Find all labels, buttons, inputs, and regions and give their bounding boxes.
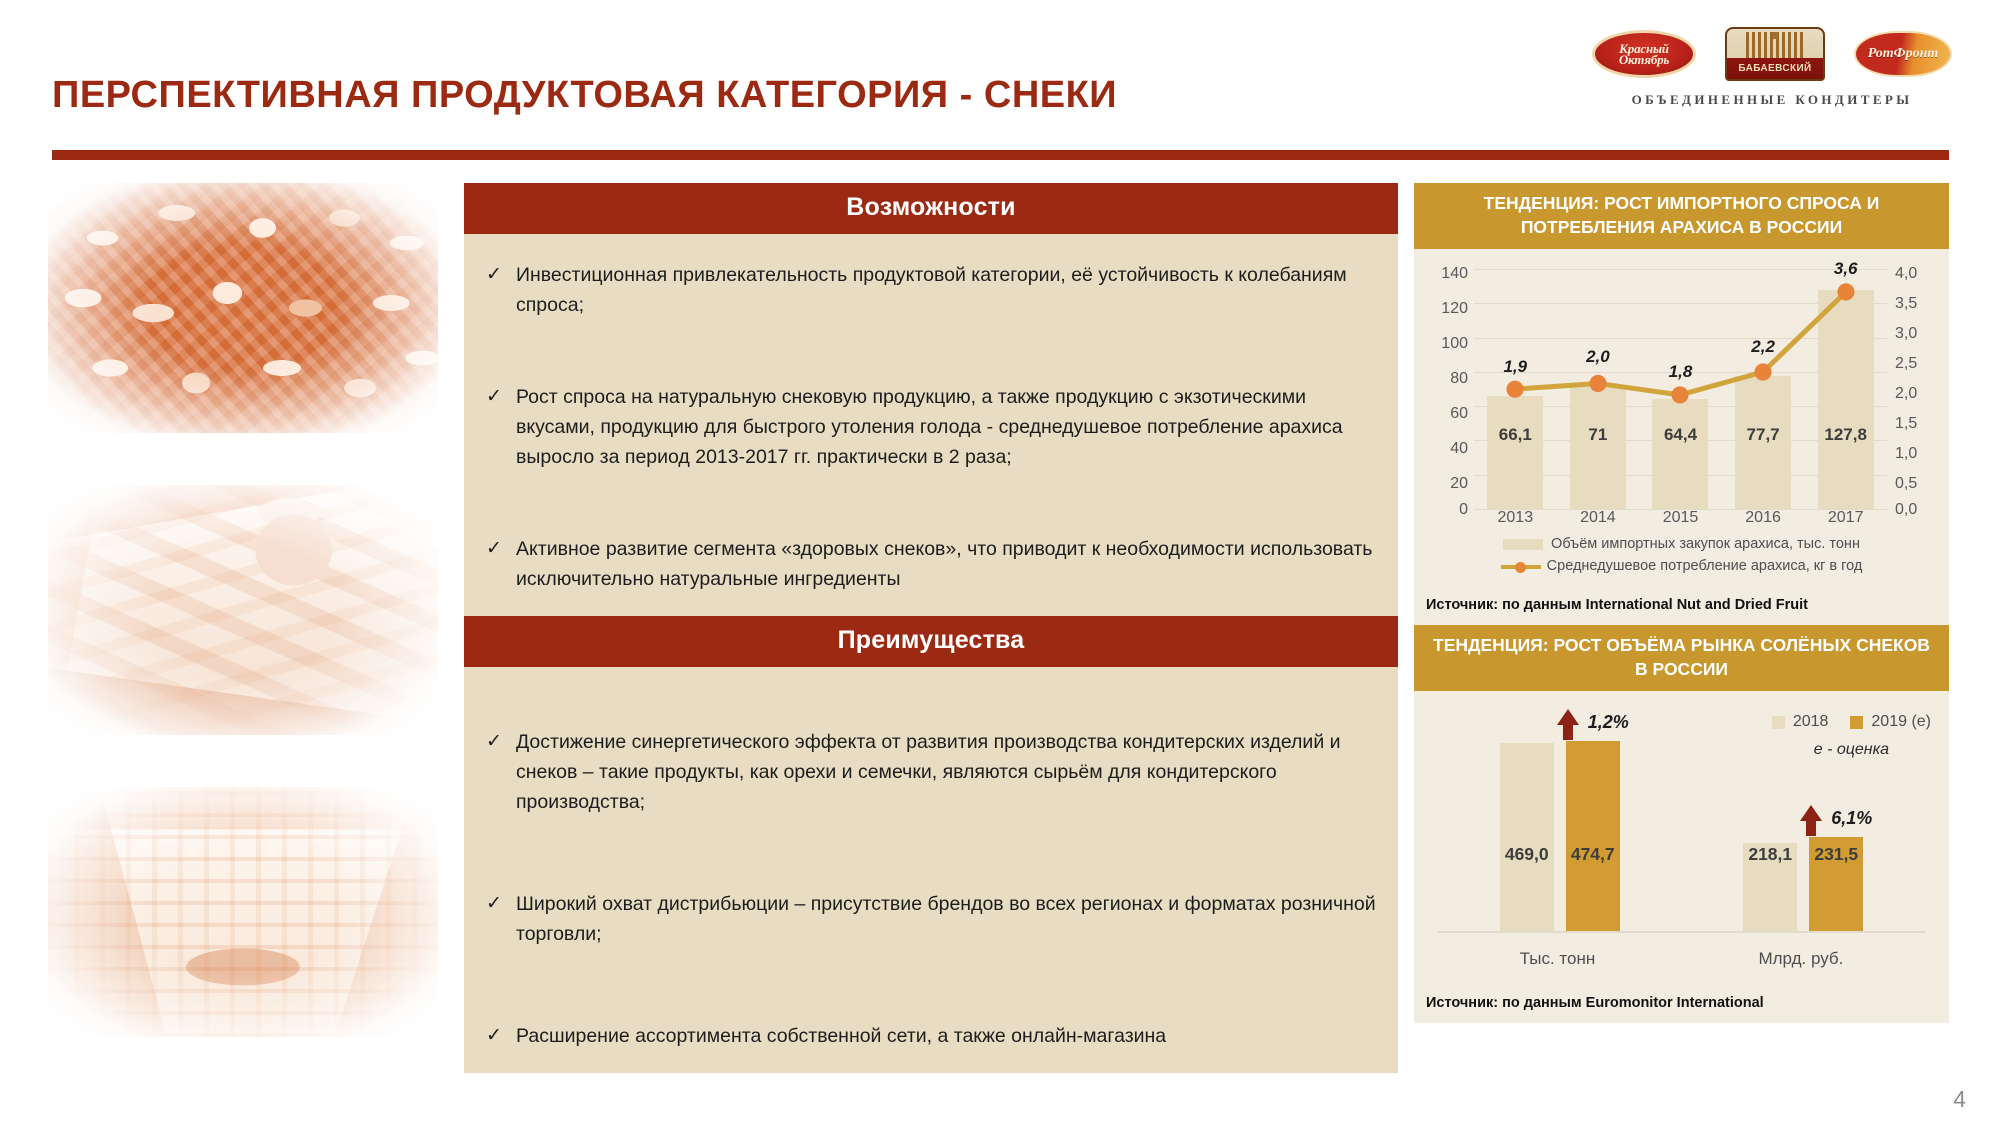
chart2-x-axis: Тыс. тонн Млрд. руб. [1438,949,1925,969]
babaevskiy-building-icon [1746,32,1804,58]
salty-snacks-market-chart: 2018 2019 (e) е - оценка 469,0 474,7 [1424,703,1939,975]
growth-annotation-tonnes: 1,2% [1557,700,1629,733]
point-value-2017: 3,6 [1834,259,1858,279]
mixed-nuts-photo [48,183,438,433]
y-tick-80: 80 [1424,370,1468,388]
x-tick-2015: 2015 [1652,509,1708,531]
list-item: ✓ Достижение синергетического эффекта от… [486,727,1376,817]
bar-2018-tonnes: 469,0 [1500,743,1554,933]
chart2-bar-groups: 469,0 474,7 1,2% 218,1 [1438,703,1925,933]
advantages-heading: Преимущества [464,616,1398,667]
babaevskiy-logo: БАБАЕВСКИЙ [1725,27,1825,81]
list-item-text: Активное развитие сегмента «здоровых сне… [516,534,1376,594]
y2-tick-40: 4,0 [1895,265,1939,283]
factory-worker-photo [48,485,438,735]
x-tick-rubles: Млрд. руб. [1758,949,1843,969]
charts-column: ТЕНДЕНЦИЯ: РОСТ ИМПОРТНОГО СПРОСА И ПОТР… [1414,183,1949,1023]
y-tick-100: 100 [1424,335,1468,353]
krasny-oktyabr-logo-text: Красный Октябрь [1595,43,1693,65]
legend-line-marker-icon [1501,561,1541,572]
spacer [486,817,1376,889]
group-rubles: 218,1 231,5 6,1% [1743,837,1863,933]
y2-tick-25: 2,5 [1895,355,1939,373]
list-item-text: Достижение синергетического эффекта от р… [516,727,1376,817]
y-tick-0: 0 [1424,501,1468,519]
x-tick-2016: 2016 [1735,509,1791,531]
chart1-title: ТЕНДЕНЦИЯ: РОСТ ИМПОРТНОГО СПРОСА И ПОТР… [1414,183,1949,249]
list-item: ✓ Активное развитие сегмента «здоровых с… [486,534,1376,594]
up-arrow-icon [1557,709,1579,725]
babaevskiy-logo-text: БАБАЕВСКИЙ [1727,59,1823,79]
x-tick-2013: 2013 [1487,509,1543,531]
y2-tick-05: 0,5 [1895,475,1939,493]
chart1-source: Источник: по данным International Nut an… [1414,587,1949,625]
page-title: ПЕРСПЕКТИВНАЯ ПРОДУКТОВАЯ КАТЕГОРИЯ - СН… [52,74,1117,117]
legend-item-import: Объём импортных закупок арахиса, тыс. то… [1424,533,1939,555]
spacer [486,472,1376,534]
page-number: 4 [1953,1086,1966,1113]
growth-percent: 6,1% [1831,808,1872,829]
opportunities-heading: Возможности [464,183,1398,234]
y2-tick-20: 2,0 [1895,385,1939,403]
list-item-text: Инвестиционная привлекательность продукт… [516,260,1376,320]
spacer [486,320,1376,382]
x-tick-tonnes: Тыс. тонн [1520,949,1596,969]
bar-value: 218,1 [1740,844,1800,865]
rot-front-logo-text: РотФронт [1868,46,1939,62]
list-item: ✓ Широкий охват дистрибьюции – присутств… [486,889,1376,949]
logo-row: Красный Октябрь БАБАЕВСКИЙ РотФронт [1592,26,1952,82]
check-icon: ✓ [486,260,516,320]
legend-swatch-icon [1503,539,1543,550]
x-tick-2014: 2014 [1570,509,1626,531]
point-value-2015: 1,8 [1669,362,1693,382]
advantages-body: ✓ Достижение синергетического эффекта от… [464,667,1398,1073]
y-tick-140: 140 [1424,265,1468,283]
list-item-text: Расширение ассортимента собственной сети… [516,1021,1376,1051]
bar-2019-tonnes: 474,7 1,2% [1566,741,1620,933]
spacer [486,949,1376,1021]
check-icon: ✓ [486,534,516,594]
legend-label: Объём импортных закупок арахиса, тыс. то… [1551,533,1860,555]
y2-tick-35: 3,5 [1895,295,1939,313]
bar-2018-rubles: 218,1 [1743,843,1797,933]
point-value-2016: 2,2 [1751,337,1775,357]
chart2-baseline [1438,931,1925,933]
y-tick-60: 60 [1424,405,1468,423]
check-icon: ✓ [486,727,516,817]
list-item-text: Широкий охват дистрибьюции – присутствие… [516,889,1376,949]
bar-value: 474,7 [1563,844,1623,865]
point-value-2013: 1,9 [1503,357,1527,377]
content-column: Возможности ✓ Инвестиционная привлекател… [464,183,1398,1073]
chart2-body: 2018 2019 (e) е - оценка 469,0 474,7 [1414,691,1949,985]
chart1-legend: Объём импортных закупок арахиса, тыс. то… [1424,533,1939,577]
bar-value: 231,5 [1806,844,1866,865]
point-value-2014: 2,0 [1586,347,1610,367]
up-arrow-icon [1800,805,1822,821]
peanut-import-chart: 140 120 100 80 60 40 20 0 4,0 3,5 3,0 2,… [1424,261,1939,531]
list-item: ✓ Расширение ассортимента собственной се… [486,1021,1376,1051]
brand-bar: Красный Октябрь БАБАЕВСКИЙ РотФронт ОБЪЕ… [1592,26,1952,108]
x-tick-2017: 2017 [1818,509,1874,531]
check-icon: ✓ [486,889,516,949]
title-divider [52,150,1949,160]
list-item: ✓ Рост спроса на натуральную снековую пр… [486,382,1376,472]
spacer [486,693,1376,727]
y-tick-20: 20 [1424,475,1468,493]
opportunities-body: ✓ Инвестиционная привлекательность проду… [464,234,1398,616]
group-tonnes: 469,0 474,7 1,2% [1500,741,1620,933]
chart2-source: Источник: по данным Euromonitor Internat… [1414,985,1949,1023]
chart1-x-axis: 2013 2014 2015 2016 2017 [1474,509,1887,531]
bar-2019-rubles: 231,5 6,1% [1809,837,1863,933]
check-icon: ✓ [486,1021,516,1051]
krasny-oktyabr-logo: Красный Октябрь [1592,30,1696,78]
slide: ПЕРСПЕКТИВНАЯ ПРОДУКТОВАЯ КАТЕГОРИЯ - СН… [0,0,2000,1125]
y-tick-40: 40 [1424,440,1468,458]
confectionery-shop-photo [48,787,438,1037]
list-item-text: Рост спроса на натуральную снековую прод… [516,382,1376,472]
y2-tick-30: 3,0 [1895,325,1939,343]
photo-column [48,183,438,1089]
growth-percent: 1,2% [1588,712,1629,733]
rot-front-logo: РотФронт [1854,31,1952,77]
y2-tick-15: 1,5 [1895,415,1939,433]
growth-annotation-rubles: 6,1% [1800,796,1872,829]
chart1-body: 140 120 100 80 60 40 20 0 4,0 3,5 3,0 2,… [1414,249,1949,587]
chart1-plot: 66,1 71 64,4 77,7 127,8 [1474,269,1887,509]
legend-item-consumption: Среднедушевое потребление арахиса, кг в … [1424,555,1939,577]
legend-label: Среднедушевое потребление арахиса, кг в … [1547,555,1863,577]
check-icon: ✓ [486,382,516,472]
brand-caption: ОБЪЕДИНЕННЫЕ КОНДИТЕРЫ [1592,92,1952,108]
list-item: ✓ Инвестиционная привлекательность проду… [486,260,1376,320]
chart2-title: ТЕНДЕНЦИЯ: РОСТ ОБЪЁМА РЫНКА СОЛЁНЫХ СНЕ… [1414,625,1949,691]
y2-tick-10: 1,0 [1895,445,1939,463]
consumption-markers [1474,269,1887,498]
y-tick-120: 120 [1424,300,1468,318]
bar-value: 469,0 [1497,844,1557,865]
y2-tick-00: 0,0 [1895,501,1939,519]
